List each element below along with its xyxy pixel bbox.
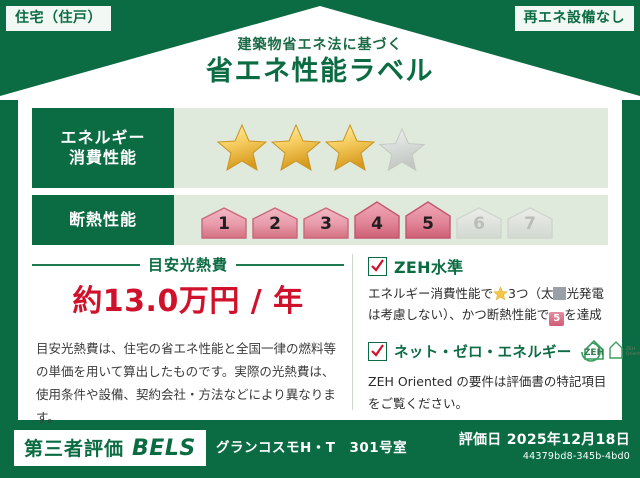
insulation-grade-2: 2 (251, 206, 299, 240)
svg-text:Oriented: Oriented (626, 351, 640, 357)
insulation-grade-4: 4 (353, 200, 401, 240)
insulation-grade-1-label: 1 (200, 214, 248, 234)
star-rating (216, 123, 426, 173)
insulation-grade-5: 5 (404, 200, 452, 240)
net-zero-energy-head: ネット・ゼロ・エネルギー ZEH ZEH Oriented (368, 336, 614, 366)
svg-text:ZEH: ZEH (584, 348, 604, 358)
checkbox-checked-icon-2[interactable] (368, 342, 387, 361)
utility-cost-block: 目安光熱費 約13.0万円 / 年 目安光熱費は、住宅の省エネ性能と全国一律の燃… (32, 254, 344, 430)
zeh-standard-head: ZEH水準 (368, 254, 614, 278)
star-icon-filled-2 (270, 123, 322, 173)
energy-performance-value (174, 108, 608, 188)
bels-tag-en: BELS (132, 436, 196, 461)
evaluation-date: 評価日 2025年12月18日 (459, 432, 630, 449)
label-title-block: 建築物省エネ法に基づく 省エネ性能ラベル (0, 38, 640, 85)
vertical-divider (352, 254, 353, 410)
title-main: 省エネ性能ラベル (0, 58, 640, 85)
star-icon-filled-3 (324, 123, 376, 173)
insulation-grade-6: 6 (455, 206, 503, 240)
insulation-performance-key: 断熱性能 (32, 195, 174, 245)
title-subtitle: 建築物省エネ法に基づく (0, 38, 640, 52)
star-icon-inline (493, 286, 508, 301)
zeh-block: ZEH水準 エネルギー消費性能で3つ（太光発電は考慮しない）、かつ断熱性能で5を… (368, 254, 614, 424)
utility-cost-heading-label: 目安光熱費 (148, 254, 228, 275)
net-zero-energy-item: ネット・ゼロ・エネルギー ZEH ZEH Oriented ZEH Orient… (368, 336, 614, 414)
insulation-grade-7-label: 7 (506, 214, 554, 234)
building-name: グランコスモH・T 301号室 (216, 436, 407, 456)
evaluation-info: 評価日 2025年12月18日 44379bd8-345b-4bd0 (459, 432, 630, 462)
star-icon-empty-4 (378, 127, 426, 173)
heading-rule-right (236, 264, 344, 266)
net-zero-energy-desc: ZEH Oriented の要件は評価書の特記項目をご覧ください。 (368, 371, 614, 414)
utility-cost-amount: 約13.0万円 / 年 (32, 287, 344, 317)
label-body-card: エネルギー 消費性能 (18, 96, 622, 420)
energy-key-line2: 消費性能 (69, 148, 137, 168)
insulation-grade-4-label: 4 (353, 214, 401, 234)
energy-performance-row: エネルギー 消費性能 (32, 108, 608, 188)
insulation-grade-7: 7 (506, 206, 554, 240)
insulation-grade-3-label: 3 (302, 214, 350, 234)
insulation-grade-inline-badge: 5 (549, 312, 564, 326)
insulation-performance-value: 1 2 3 (174, 195, 608, 245)
utility-cost-heading: 目安光熱費 (32, 254, 344, 275)
zeh-standard-title: ZEH水準 (394, 254, 463, 278)
insulation-grade-3: 3 (302, 206, 350, 240)
net-zero-energy-title: ネット・ゼロ・エネルギー (394, 341, 572, 362)
insulation-grade-5-label: 5 (404, 214, 452, 234)
energy-key-line1: エネルギー (60, 128, 145, 148)
zeh-standard-desc: エネルギー消費性能で3つ（太光発電は考慮しない）、かつ断熱性能で5を達成 (368, 283, 614, 326)
checkbox-checked-icon[interactable] (368, 257, 387, 276)
insulation-grade-scale: 1 2 3 (200, 200, 554, 240)
heading-rule-left (32, 264, 140, 266)
redaction-block (553, 287, 566, 300)
zeh-desc-part4: を達成 (564, 307, 602, 322)
building-type-tag: 住宅（住戸） (6, 6, 111, 31)
insulation-performance-row: 断熱性能 1 2 (32, 195, 608, 245)
energy-performance-key: エネルギー 消費性能 (32, 108, 174, 188)
energy-performance-label: 住宅（住戸） 再エネ設備なし 建築物省エネ法に基づく 省エネ性能ラベル エネルギ… (0, 0, 640, 478)
zeh-oriented-logo-icon: ZEH ZEH Oriented (581, 336, 640, 366)
zeh-desc-part2: 3つ（太 (508, 286, 553, 301)
bels-tag-ja: 第三者評価 (24, 434, 124, 461)
bels-certification-tag: 第三者評価 BELS (14, 430, 206, 466)
insulation-grade-1: 1 (200, 206, 248, 240)
insulation-grade-6-label: 6 (455, 214, 503, 234)
utility-cost-note: 目安光熱費は、住宅の省エネ性能と全国一律の燃料等の単価を用いて算出したものです。… (32, 337, 344, 430)
insulation-grade-2-label: 2 (251, 214, 299, 234)
footer-bar: 第三者評価 BELS グランコスモH・T 301号室 評価日 2025年12月1… (0, 422, 640, 478)
zeh-desc-part1: エネルギー消費性能で (368, 286, 493, 301)
evaluation-id: 44379bd8-345b-4bd0 (459, 451, 630, 462)
renewable-equipment-tag: 再エネ設備なし (515, 6, 635, 31)
star-icon-filled-1 (216, 123, 268, 173)
zeh-standard-item: ZEH水準 エネルギー消費性能で3つ（太光発電は考慮しない）、かつ断熱性能で5を… (368, 254, 614, 326)
